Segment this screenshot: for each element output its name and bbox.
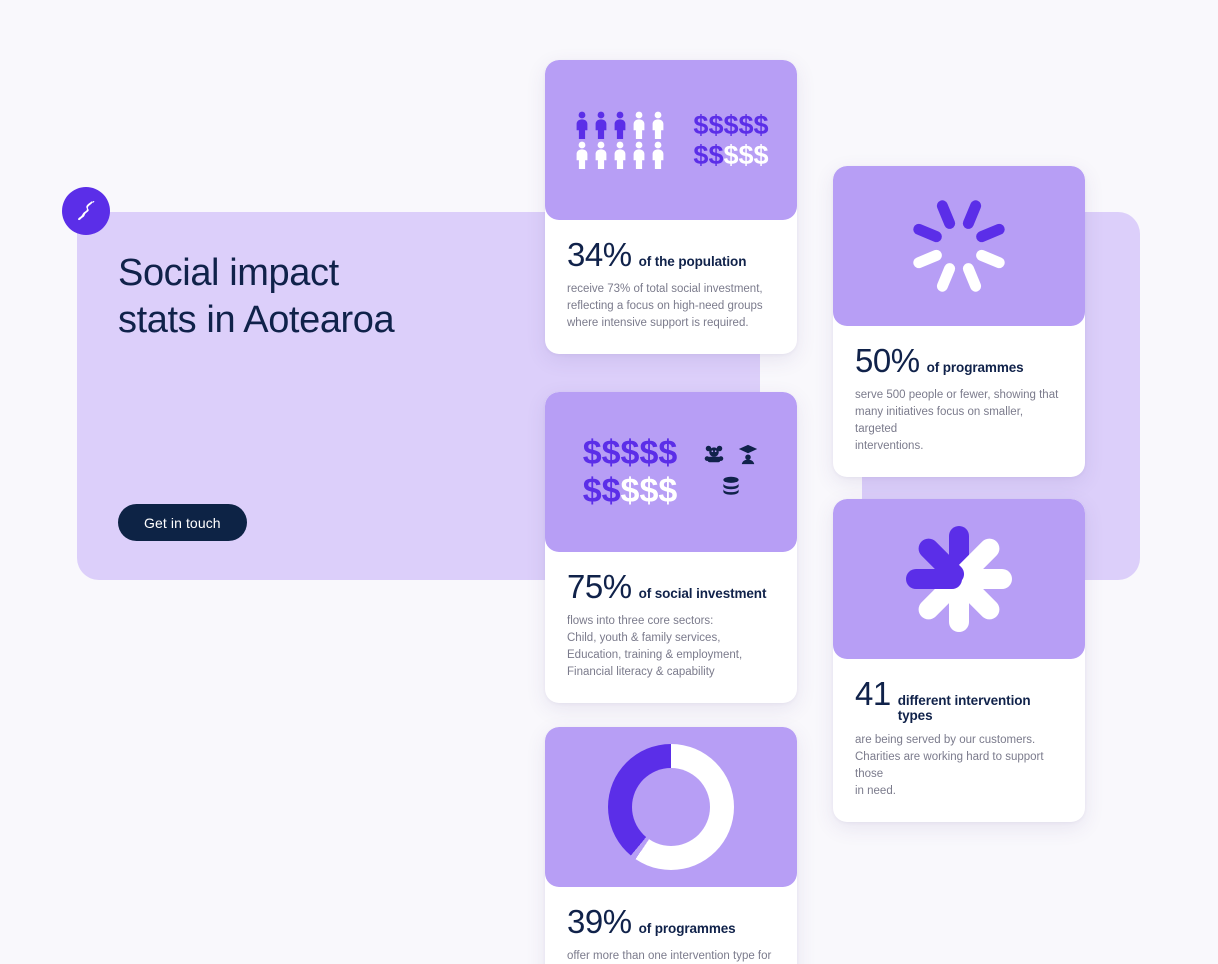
card-visual-asterisk-burst <box>833 499 1085 659</box>
coins-stack-icon <box>719 476 743 501</box>
burst-spoke <box>935 261 957 293</box>
card-visual-pictogram: $$$$$$$$$$ <box>545 60 797 220</box>
stat-label: of social investment <box>639 586 767 601</box>
dollar-icon: $ <box>723 140 738 170</box>
stat-card-intervention-types[interactable]: 41 different intervention types are bein… <box>833 499 1085 822</box>
dollar-icon: $ <box>621 434 640 472</box>
card-body: 50% of programmes serve 500 people or fe… <box>833 326 1085 477</box>
stat-description: flows into three core sectors: Child, yo… <box>567 613 775 681</box>
sector-icon-group <box>703 443 759 501</box>
infographic-stage: Social impact stats in Aotearoa Get in t… <box>0 0 1218 964</box>
person-icon <box>611 141 629 169</box>
burst-spoke <box>974 248 1006 270</box>
person-icon <box>573 111 591 139</box>
burst-spoke <box>912 248 944 270</box>
stat-headline: 75% of social investment <box>567 570 775 604</box>
new-zealand-map-icon[interactable] <box>62 187 110 235</box>
dollar-icon: $ <box>602 472 621 510</box>
burst-spoke <box>912 222 944 244</box>
person-icon <box>592 111 610 139</box>
stat-label: of programmes <box>639 921 736 936</box>
dollar-icon: $ <box>754 140 769 170</box>
burst-spoke <box>935 199 957 231</box>
person-icon <box>592 141 610 169</box>
donut-chart <box>608 744 734 870</box>
graduate-icon <box>737 443 759 470</box>
stat-description: serve 500 people or fewer, showing that … <box>855 387 1063 455</box>
stat-value: 39% <box>567 905 632 939</box>
stat-label: of programmes <box>927 360 1024 375</box>
dollar-pictogram-grid: $$$$$$$$$$ <box>693 110 768 170</box>
dollar-icon: $ <box>693 140 708 170</box>
teddy-bear-icon <box>703 443 725 470</box>
hero-text-block: Social impact stats in Aotearoa <box>118 250 538 344</box>
card-visual-donut <box>545 727 797 887</box>
stat-card-programmes[interactable]: 50% of programmes serve 500 people or fe… <box>833 166 1085 477</box>
stat-headline: 34% of the population <box>567 238 775 272</box>
stat-description: receive 73% of total social investment, … <box>567 281 775 332</box>
dollar-icon: $ <box>723 110 738 140</box>
burst-spoke <box>974 222 1006 244</box>
stat-description: are being served by our customers. Chari… <box>855 732 1063 800</box>
stat-headline: 39% of programmes <box>567 905 775 939</box>
stat-headline: 50% of programmes <box>855 344 1063 378</box>
person-icon <box>573 141 591 169</box>
stat-label: of the population <box>639 254 747 269</box>
card-body: 75% of social investment flows into thre… <box>545 552 797 703</box>
person-icon <box>630 141 648 169</box>
dollar-icon: $ <box>602 434 621 472</box>
dollar-icon: $ <box>739 140 754 170</box>
person-icon <box>611 111 629 139</box>
dollar-icon: $ <box>754 110 769 140</box>
dollar-icon: $ <box>583 434 602 472</box>
card-visual-pictogram: $$$$$$$$$$ <box>545 392 797 552</box>
dollar-icon: $ <box>639 472 658 510</box>
stat-card-social-investment[interactable]: $$$$$$$$$$ <box>545 392 797 703</box>
dollar-icon: $ <box>658 472 677 510</box>
burst-spoke <box>961 261 983 293</box>
person-icon <box>630 111 648 139</box>
dollar-icon: $ <box>639 434 658 472</box>
dollar-icon: $ <box>708 110 723 140</box>
card-body: 39% of programmes offer more than one in… <box>545 887 797 964</box>
dollar-icon: $ <box>739 110 754 140</box>
card-visual-spoke-burst <box>833 166 1085 326</box>
stat-card-population[interactable]: $$$$$$$$$$ 34% of the population receive… <box>545 60 797 354</box>
page-title: Social impact stats in Aotearoa <box>118 250 538 344</box>
stat-value: 41 <box>855 677 891 711</box>
dollar-icon: $ <box>708 140 723 170</box>
stat-value: 34% <box>567 238 632 272</box>
stat-value: 50% <box>855 344 920 378</box>
card-body: 41 different intervention types are bein… <box>833 659 1085 822</box>
spoke-burst-chart <box>904 191 1014 301</box>
person-icon <box>649 141 667 169</box>
stat-label: different intervention types <box>898 693 1063 723</box>
dollar-icon: $ <box>658 434 677 472</box>
stat-description: offer more than one intervention type fo… <box>567 948 775 964</box>
dollar-icon: $ <box>583 472 602 510</box>
dollar-pictogram-grid: $$$$$$$$$$ <box>583 434 678 510</box>
stat-headline: 41 different intervention types <box>855 677 1063 723</box>
person-icon <box>649 111 667 139</box>
stat-card-multi-intervention[interactable]: 39% of programmes offer more than one in… <box>545 727 797 964</box>
dollar-icon: $ <box>693 110 708 140</box>
asterisk-burst-icon <box>903 523 1015 635</box>
dollar-icon: $ <box>621 472 640 510</box>
burst-spoke <box>961 199 983 231</box>
person-pictogram-grid <box>573 111 667 169</box>
card-body: 34% of the population receive 73% of tot… <box>545 220 797 354</box>
get-in-touch-button[interactable]: Get in touch <box>118 504 247 541</box>
stat-value: 75% <box>567 570 632 604</box>
